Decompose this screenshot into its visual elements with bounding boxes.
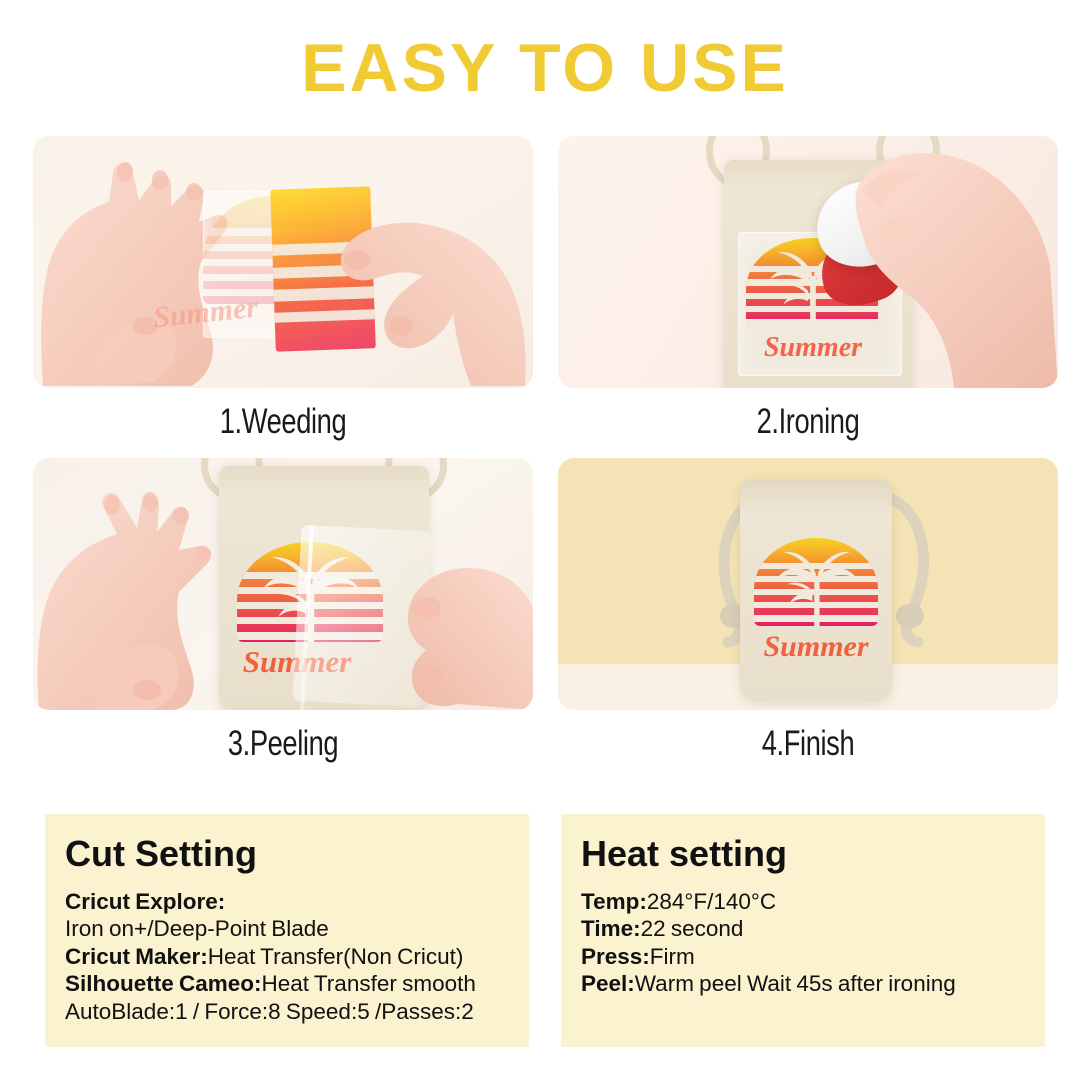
step-ironing: Summer 2.	[558, 136, 1058, 458]
heat-line-1-rest: 22 second	[641, 916, 744, 941]
step-photo-ironing: Summer	[558, 136, 1058, 388]
step-label-ironing: 2.Ironing	[613, 388, 1003, 458]
right-hand-peeling	[33, 458, 533, 710]
cut-line-3-bold: Silhouette Cameo:	[65, 971, 262, 996]
step-photo-peeling: Summer	[33, 458, 533, 710]
steps-grid: Summer 1.Weeding	[33, 136, 1057, 780]
step-weeding: Summer 1.Weeding	[33, 136, 533, 458]
palm-tree-icon	[771, 542, 860, 626]
step-label-finish: 4.Finish	[613, 710, 1003, 780]
step-photo-finish: Summer	[558, 458, 1058, 710]
scene-peeling-background: Summer	[33, 458, 533, 710]
cut-setting-title: Cut Setting	[65, 836, 509, 872]
cut-setting-line: AutoBlade:1 / Force:8 Speed:5 /Passes:2	[65, 998, 509, 1025]
step-finish: Summer 4.Finish	[558, 458, 1058, 780]
cut-setting-line: Iron on+/Deep-Point Blade	[65, 915, 509, 942]
heat-line-0-bold: Temp:	[581, 889, 647, 914]
scene-finish-background: Summer	[558, 458, 1058, 710]
cut-line-2-bold: Cricut Maker:	[65, 944, 208, 969]
heat-line-3-bold: Peel:	[581, 971, 635, 996]
scene-weeding-background: Summer	[33, 136, 533, 388]
settings-row: Cut Setting Cricut Explore: Iron on+/Dee…	[45, 814, 1045, 1047]
step-label-weeding: 1.Weeding	[88, 388, 478, 458]
cut-line-1-rest: Iron on+/Deep-Point Blade	[65, 916, 329, 941]
heat-line-2-bold: Press:	[581, 944, 650, 969]
step-photo-weeding: Summer	[33, 136, 533, 388]
steps-row-1: Summer 1.Weeding	[33, 136, 1057, 458]
heat-setting-line: Peel:Warm peel Wait 45s after ironing	[581, 970, 1025, 997]
heat-line-0-rest: 284°F/140°C	[647, 889, 776, 914]
heat-setting-box: Heat setting Temp:284°F/140°C Time:22 se…	[561, 814, 1045, 1047]
heat-line-2-rest: Firm	[650, 944, 695, 969]
heat-setting-line: Temp:284°F/140°C	[581, 888, 1025, 915]
heat-setting-lines: Temp:284°F/140°C Time:22 second Press:Fi…	[581, 888, 1025, 998]
step-peeling: Summer	[33, 458, 533, 780]
scene-ironing-background: Summer	[558, 136, 1058, 388]
steps-row-2: Summer	[33, 458, 1057, 780]
design-word-finish: Summer	[763, 630, 868, 664]
cut-setting-box: Cut Setting Cricut Explore: Iron on+/Dee…	[45, 814, 529, 1047]
cut-setting-line: Cricut Maker:Heat Transfer(Non Cricut)	[65, 943, 509, 970]
cut-line-2-rest: Heat Transfer(Non Cricut)	[208, 944, 464, 969]
sunset-design-finish	[754, 538, 878, 626]
cut-line-4-rest: AutoBlade:1 / Force:8 Speed:5 /Passes:2	[65, 999, 474, 1024]
heat-setting-line: Time:22 second	[581, 915, 1025, 942]
cut-setting-line: Silhouette Cameo:Heat Transfer smooth	[65, 970, 509, 997]
right-hand-illustration	[33, 136, 533, 388]
cut-line-0-bold: Cricut Explore:	[65, 889, 225, 914]
page-title: EASY TO USE	[0, 34, 1090, 102]
heat-line-1-bold: Time:	[581, 916, 641, 941]
ironing-hand-illustration	[558, 136, 1058, 388]
step-label-peeling: 3.Peeling	[88, 710, 478, 780]
cut-line-3-rest: Heat Transfer smooth	[262, 971, 476, 996]
cut-setting-lines: Cricut Explore: Iron on+/Deep-Point Blad…	[65, 888, 509, 1025]
heat-setting-title: Heat setting	[581, 836, 1025, 872]
heat-line-3-rest: Warm peel Wait 45s after ironing	[635, 971, 956, 996]
cut-setting-line: Cricut Explore:	[65, 888, 509, 915]
heat-setting-line: Press:Firm	[581, 943, 1025, 970]
